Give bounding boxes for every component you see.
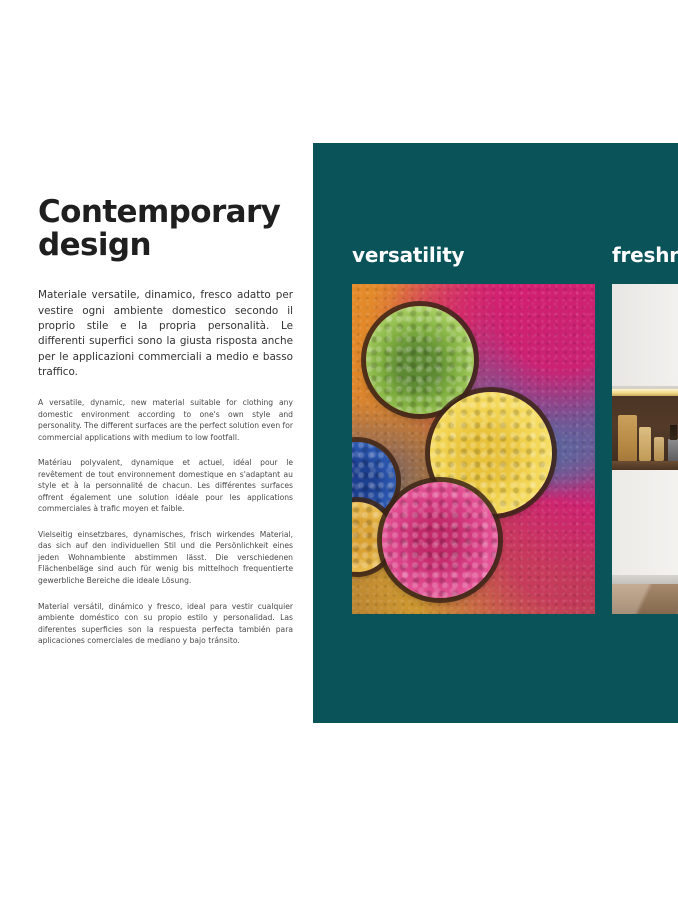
kitchen-upper-cabinets (612, 284, 678, 389)
kitchen-cutting-board (618, 415, 637, 461)
pigment-bowl-magenta (382, 482, 498, 598)
card-heading-versatility: versatility (352, 243, 595, 267)
kitchen-jar-small (654, 437, 664, 461)
kitchen-shelf (612, 461, 678, 470)
kitchen-wood-backsplash (612, 396, 678, 470)
kitchen-wood-floor (612, 584, 678, 614)
card-heading-freshness: freshness (612, 243, 678, 267)
teal-feature-panel: versatility freshness (313, 143, 678, 723)
description-spanish: Material versátil, dinámico y fresco, id… (38, 601, 293, 647)
kitchen-led-strip-light (612, 389, 678, 396)
colored-pigment-powders-photo (352, 284, 595, 614)
feature-card-versatility: versatility (352, 243, 595, 614)
description-english: A versatile, dynamic, new material suita… (38, 397, 293, 443)
kitchen-utensil-holder (668, 439, 678, 461)
description-french: Matériau polyvalent, dynamique et actuel… (38, 457, 293, 515)
modern-kitchen-interior-photo (612, 284, 678, 614)
pigment-bowl-green (366, 306, 474, 414)
kitchen-scene (612, 284, 678, 614)
kitchen-jar-large (639, 427, 651, 461)
text-column: Contemporary design Materiale versatile,… (38, 196, 293, 647)
kitchen-lower-cabinets (612, 470, 678, 575)
page-title: Contemporary design (38, 196, 293, 262)
feature-card-freshness: freshness (612, 243, 678, 614)
description-german: Vielseitig einsetzbares, dynamisches, fr… (38, 529, 293, 587)
description-italian: Materiale versatile, dinamico, fresco ad… (38, 288, 293, 380)
kitchen-toe-kick (612, 575, 678, 584)
